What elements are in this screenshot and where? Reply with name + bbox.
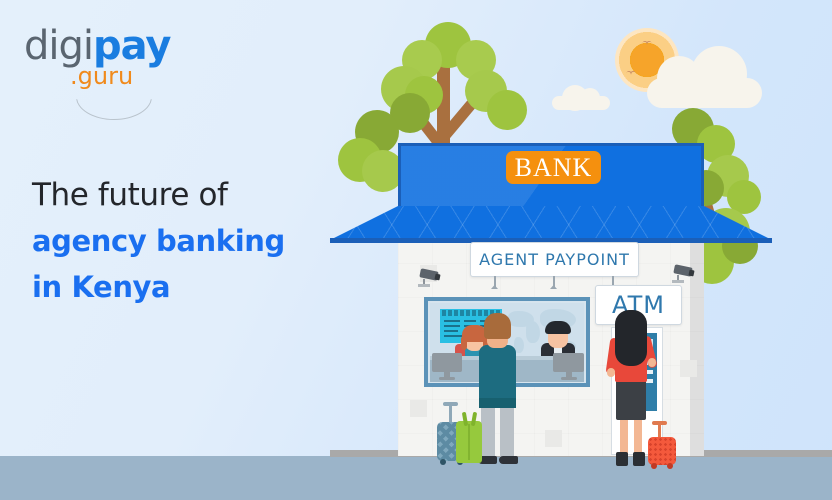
bird-icon xyxy=(626,71,637,77)
security-camera-icon xyxy=(418,270,440,280)
promo-banner: digipay .guru The future of agency banki… xyxy=(0,0,832,500)
cloud-icon xyxy=(552,96,610,110)
wall-tile xyxy=(680,360,697,377)
cloud-icon xyxy=(647,78,762,108)
teller-monitor xyxy=(553,353,584,372)
bank-sign-label: BANK xyxy=(515,155,593,181)
bird-icon xyxy=(642,41,653,47)
headline-line-2: agency banking xyxy=(32,218,332,264)
agent-paypoint-label: AGENT PAYPOINT xyxy=(479,250,630,269)
headline-line-1: The future of xyxy=(32,172,332,218)
bank-sign: BANK xyxy=(506,151,601,184)
ground-strip xyxy=(0,456,832,500)
headline-block: The future of agency banking in Kenya xyxy=(32,172,332,310)
headline-line-3: in Kenya xyxy=(32,264,332,310)
agent-paypoint-sign[interactable]: AGENT PAYPOINT xyxy=(470,242,639,277)
security-camera-icon xyxy=(672,266,694,276)
wall-tile xyxy=(545,430,562,447)
wall-tile xyxy=(410,400,427,417)
sign-mount-rod xyxy=(553,276,555,287)
brand-logo[interactable]: digipay .guru xyxy=(24,26,184,98)
sign-mount-rod xyxy=(494,276,496,287)
teller-monitor xyxy=(432,353,462,372)
logo-text-guru: .guru xyxy=(70,64,133,88)
awning-pattern xyxy=(330,206,772,240)
logo-wordmark: digipay xyxy=(24,26,170,66)
